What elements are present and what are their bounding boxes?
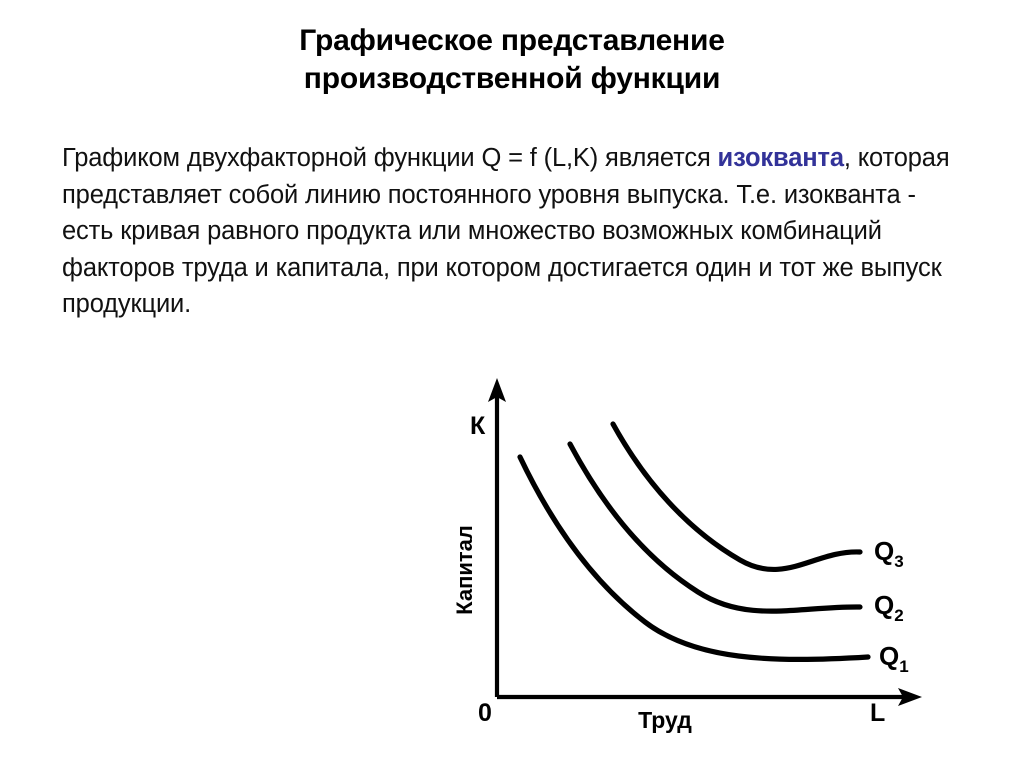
highlighted-term-isoquant: изокванта (718, 144, 844, 172)
x-axis-symbol-label: L (870, 699, 885, 727)
curve-label-q2-text: Q (874, 590, 894, 620)
body-text-before-term: Графиком двухфакторной функции Q = f (L,… (62, 144, 718, 172)
origin-label: 0 (478, 699, 492, 727)
curve-label-q2-subscript: 2 (894, 606, 903, 625)
page-title-line-1: Графическое представление (0, 22, 1024, 60)
x-axis-title-label: Труд (638, 707, 692, 733)
isoquant-curve-q3 (613, 424, 860, 569)
page-title-line-2: производственной функции (0, 60, 1024, 98)
curve-label-q3-subscript: 3 (894, 552, 903, 571)
isoquant-diagram: Q3 Q2 Q1 К L 0 Труд Капитал (430, 370, 950, 740)
isoquant-curve-q2 (570, 444, 860, 611)
curve-label-q1: Q1 (879, 641, 909, 676)
curve-label-q3-text: Q (874, 536, 894, 566)
curve-label-q2: Q2 (874, 590, 904, 625)
y-axis-symbol-label: К (470, 412, 486, 440)
curve-label-q3: Q3 (874, 536, 904, 571)
body-paragraph: Графиком двухфакторной функции Q = f (L,… (62, 140, 962, 323)
curve-label-q1-text: Q (879, 641, 899, 671)
curve-label-q1-subscript: 1 (899, 657, 908, 676)
page-title: Графическое представление производственн… (0, 22, 1024, 98)
y-axis-title-label: Капитал (452, 525, 477, 615)
